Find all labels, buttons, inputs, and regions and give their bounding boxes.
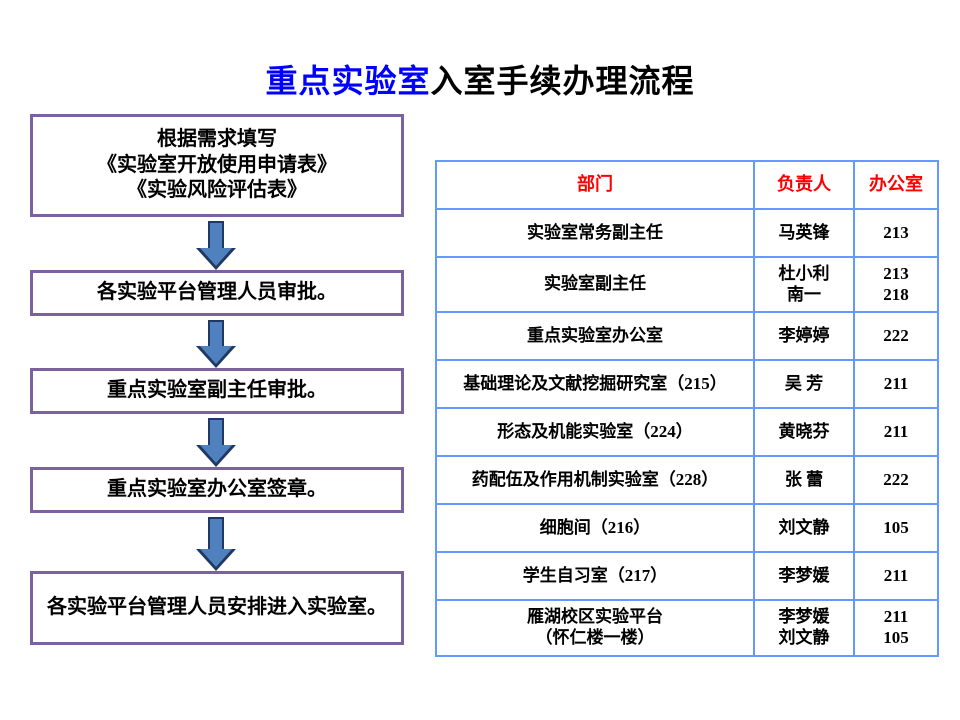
- flow-step-deputy-director-approval[interactable]: 重点实验室副主任审批。: [30, 368, 404, 414]
- cell-person: 李梦媛: [754, 552, 854, 600]
- table-row[interactable]: 雁湖校区实验平台（怀仁楼一楼） 李梦媛刘文静 211105: [436, 600, 938, 655]
- page-title: 重点实验室入室手续办理流程: [0, 56, 960, 102]
- flow-step-line: 《实验风险评估表》: [127, 178, 307, 204]
- cell-person: 张 蕾: [754, 456, 854, 504]
- flow-step-line: 根据需求填写: [157, 127, 277, 153]
- table-row[interactable]: 实验室常务副主任 马英锋 213: [436, 209, 938, 257]
- arrow-down-icon: [195, 217, 237, 270]
- table-row[interactable]: 药配伍及作用机制实验室（228） 张 蕾 222: [436, 456, 938, 504]
- flow-step-line: 重点实验室副主任审批。: [107, 378, 327, 404]
- cell-dept: 基础理论及文献挖掘研究室（215）: [436, 360, 754, 408]
- cell-person: 马英锋: [754, 209, 854, 257]
- arrow-head: [196, 549, 236, 571]
- cell-room: 211: [854, 408, 938, 456]
- table-row[interactable]: 细胞间（216） 刘文静 105: [436, 504, 938, 552]
- cell-room: 211: [854, 552, 938, 600]
- cell-person: 李婷婷: [754, 312, 854, 360]
- cell-dept: 学生自习室（217）: [436, 552, 754, 600]
- table-header-person: 负责人: [754, 161, 854, 209]
- flow-connector: [30, 316, 404, 368]
- cell-dept: 细胞间（216）: [436, 504, 754, 552]
- cell-person: 刘文静: [754, 504, 854, 552]
- page-title-plain: 入室手续办理流程: [431, 63, 695, 99]
- table-row[interactable]: 学生自习室（217） 李梦媛 211: [436, 552, 938, 600]
- flow-step-arrange-entry[interactable]: 各实验平台管理人员安排进入实验室。: [30, 571, 404, 645]
- arrow-shaft: [208, 517, 224, 553]
- cell-person: 吴 芳: [754, 360, 854, 408]
- flowchart: 根据需求填写 《实验室开放使用申请表》 《实验风险评估表》 各实验平台管理人员审…: [30, 114, 404, 645]
- flow-step-line: 各实验平台管理人员安排进入实验室。: [47, 595, 387, 621]
- department-contact-table: 部门 负责人 办公室 实验室常务副主任 马英锋 213 实验室副主任 杜小利南一…: [435, 160, 937, 657]
- cell-room: 105: [854, 504, 938, 552]
- arrow-down-icon: [195, 513, 237, 571]
- cell-dept: 实验室常务副主任: [436, 209, 754, 257]
- flow-step-line: 重点实验室办公室签章。: [107, 477, 327, 503]
- table-header-dept: 部门: [436, 161, 754, 209]
- cell-person: 李梦媛刘文静: [754, 600, 854, 655]
- arrow-down-icon: [195, 414, 237, 467]
- flow-step-line: 各实验平台管理人员审批。: [97, 280, 337, 306]
- arrow-head: [196, 346, 236, 368]
- cell-dept: 实验室副主任: [436, 257, 754, 312]
- table-row[interactable]: 基础理论及文献挖掘研究室（215） 吴 芳 211: [436, 360, 938, 408]
- cell-room: 211105: [854, 600, 938, 655]
- flow-step-fill-forms[interactable]: 根据需求填写 《实验室开放使用申请表》 《实验风险评估表》: [30, 114, 404, 217]
- flow-connector: [30, 217, 404, 270]
- cell-person: 黄晓芬: [754, 408, 854, 456]
- flow-connector: [30, 414, 404, 467]
- cell-dept: 雁湖校区实验平台（怀仁楼一楼）: [436, 600, 754, 655]
- table-header-room: 办公室: [854, 161, 938, 209]
- flow-step-line: 《实验室开放使用申请表》: [97, 153, 337, 179]
- flow-step-office-stamp[interactable]: 重点实验室办公室签章。: [30, 467, 404, 513]
- cell-room: 213218: [854, 257, 938, 312]
- table-row[interactable]: 实验室副主任 杜小利南一 213218: [436, 257, 938, 312]
- cell-room: 213: [854, 209, 938, 257]
- arrow-head: [196, 445, 236, 467]
- table-row[interactable]: 形态及机能实验室（224） 黄晓芬 211: [436, 408, 938, 456]
- table-header-row: 部门 负责人 办公室: [436, 161, 938, 209]
- cell-person: 杜小利南一: [754, 257, 854, 312]
- table-row[interactable]: 重点实验室办公室 李婷婷 222: [436, 312, 938, 360]
- page-title-accent: 重点实验室: [265, 63, 430, 99]
- cell-room: 211: [854, 360, 938, 408]
- arrow-head: [196, 248, 236, 270]
- cell-room: 222: [854, 456, 938, 504]
- flow-step-platform-manager-approval[interactable]: 各实验平台管理人员审批。: [30, 270, 404, 316]
- flow-connector: [30, 513, 404, 571]
- cell-dept: 重点实验室办公室: [436, 312, 754, 360]
- arrow-down-icon: [195, 316, 237, 368]
- cell-dept: 药配伍及作用机制实验室（228）: [436, 456, 754, 504]
- cell-dept: 形态及机能实验室（224）: [436, 408, 754, 456]
- cell-room: 222: [854, 312, 938, 360]
